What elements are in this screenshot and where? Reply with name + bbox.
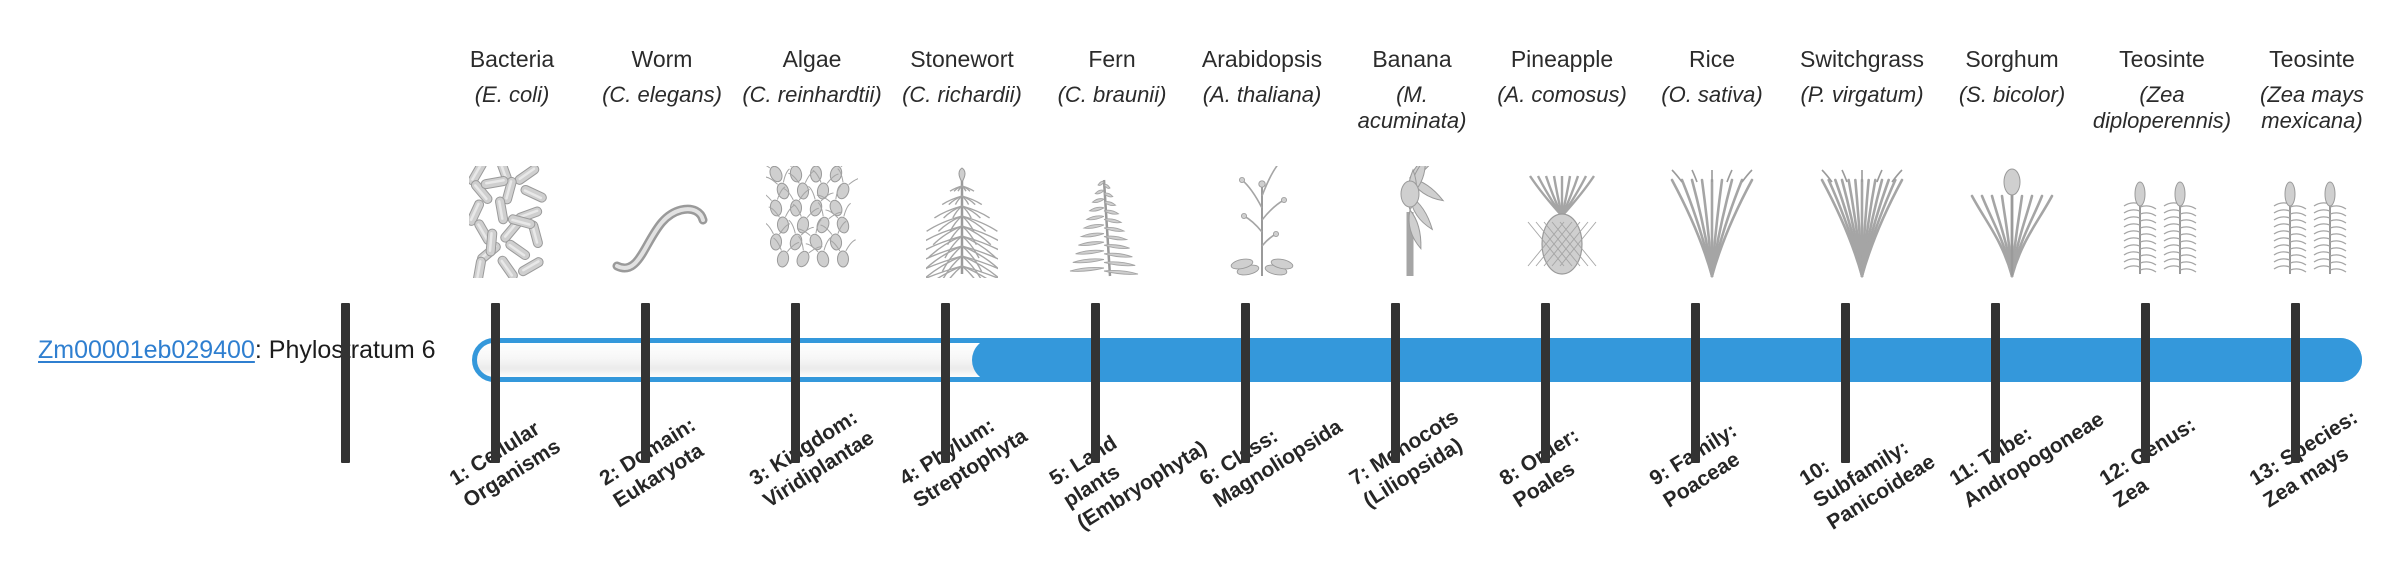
species-common-name: Banana xyxy=(1339,46,1485,73)
species-common-name: Fern xyxy=(1039,46,1185,73)
rank-label: 5: Land plants (Embryophyta) xyxy=(1045,399,1200,536)
species-scientific-name: (C. elegans) xyxy=(589,82,735,108)
species-column: Arabidopsis(A. thaliana)6: Class: Magnol… xyxy=(1195,0,1329,580)
species-common-name: Worm xyxy=(589,46,735,73)
rank-label: 9: Family: Poaceae xyxy=(1645,399,1786,514)
species-column: Maize(Zea mays mays)14: Subspecies: Zea … xyxy=(2395,0,2400,580)
pineapple-icon xyxy=(1495,168,1629,278)
rank-label: 10: Subfamily: Panicoideae xyxy=(1795,399,1950,536)
gene-label-separator: : xyxy=(255,336,269,364)
teosinte-ears-icon xyxy=(2095,168,2229,278)
species-common-name: Maize xyxy=(2389,46,2400,73)
species-scientific-name: (C. richardii) xyxy=(889,82,1035,108)
banana-plant-icon xyxy=(1345,168,1479,278)
rank-label: 6: Class: Magnoliopsida xyxy=(1195,399,1336,514)
species-scientific-name: (A. comosus) xyxy=(1489,82,1635,108)
species-header: Rice(O. sativa) xyxy=(1639,46,1785,108)
species-scientific-name: (C. reinhardtii) xyxy=(739,82,885,108)
species-scientific-name: (M. acuminata) xyxy=(1339,82,1485,134)
species-scientific-name: (O. sativa) xyxy=(1639,82,1785,108)
species-header: Bacteria(E. coli) xyxy=(439,46,585,108)
species-header: Arabidopsis(A. thaliana) xyxy=(1189,46,1335,108)
species-column: Algae(C. reinhardtii)3: Kingdom: Viridip… xyxy=(745,0,879,580)
species-header: Banana(M. acuminata) xyxy=(1339,46,1485,134)
species-column: Bacteria(E. coli)1: Cellular Organisms xyxy=(445,0,579,580)
rank-label: 7: Monocots (Liliopsida) xyxy=(1345,399,1486,514)
species-column: Fern(C. braunii)5: Land plants (Embryoph… xyxy=(1045,0,1179,580)
sorghum-icon xyxy=(1945,168,2079,278)
phylostratum-value: Phylostratum 6 xyxy=(269,336,436,364)
switchgrass-icon xyxy=(1795,168,1929,278)
rank-label: 14: Subspecies: Zea mays mays xyxy=(2395,399,2400,558)
species-column: Teosinte(Zea diploperennis)12: Genus: Ze… xyxy=(2095,0,2229,580)
bacteria-rods-icon xyxy=(445,168,579,278)
species-common-name: Sorghum xyxy=(1939,46,2085,73)
species-column: Worm(C. elegans)2: Domain: Eukaryota xyxy=(595,0,729,580)
phylostratigraphy-timeline: Zm00001eb029400: Phylostratum 6 Bacteria… xyxy=(0,0,2400,580)
algae-cells-icon xyxy=(745,168,879,278)
rank-label: 12: Genus: Zea xyxy=(2095,399,2236,514)
species-header: Teosinte(Zea diploperennis) xyxy=(2089,46,2235,134)
species-scientific-name: (Zea mays mays) xyxy=(2389,82,2400,134)
species-common-name: Stonewort xyxy=(889,46,1035,73)
species-scientific-name: (S. bicolor) xyxy=(1939,82,2085,108)
rank-label: 2: Domain: Eukaryota xyxy=(595,399,736,514)
arabidopsis-icon xyxy=(1195,168,1329,278)
species-common-name: Switchgrass xyxy=(1789,46,1935,73)
species-header: Worm(C. elegans) xyxy=(589,46,735,108)
gene-id-link[interactable]: Zm00001eb029400 xyxy=(38,336,255,364)
fern-frond-icon xyxy=(1045,168,1179,278)
species-column: Stonewort(C. richardii)4: Phylum: Strept… xyxy=(895,0,1029,580)
species-common-name: Bacteria xyxy=(439,46,585,73)
phylostratum-tick[interactable] xyxy=(341,303,350,463)
species-common-name: Pineapple xyxy=(1489,46,1635,73)
species-header: Pineapple(A. comosus) xyxy=(1489,46,1635,108)
rice-plant-icon xyxy=(1645,168,1779,278)
species-scientific-name: (Zea mays mexicana) xyxy=(2239,82,2385,134)
species-common-name: Rice xyxy=(1639,46,1785,73)
species-scientific-name: (Zea diploperennis) xyxy=(2089,82,2235,134)
stonewort-icon xyxy=(895,168,1029,278)
gene-phylostratum-label: Zm00001eb029400: Phylostratum 6 xyxy=(38,336,438,365)
species-header: Stonewort(C. richardii) xyxy=(889,46,1035,108)
species-columns: Bacteria(E. coli)1: Cellular OrganismsWo… xyxy=(470,0,2350,580)
species-scientific-name: (P. virgatum) xyxy=(1789,82,1935,108)
species-header: Teosinte(Zea mays mexicana) xyxy=(2239,46,2385,134)
species-scientific-name: (A. thaliana) xyxy=(1189,82,1335,108)
species-header: Algae(C. reinhardtii) xyxy=(739,46,885,108)
species-header: Fern(C. braunii) xyxy=(1039,46,1185,108)
rank-label: 8: Order: Poales xyxy=(1495,399,1636,514)
nematode-worm-icon xyxy=(595,168,729,278)
species-column: Sorghum(S. bicolor)11: Tribe: Andropogon… xyxy=(1945,0,2079,580)
species-scientific-name: (E. coli) xyxy=(439,82,585,108)
species-column: Switchgrass(P. virgatum)10: Subfamily: P… xyxy=(1795,0,1929,580)
teosinte-mexicana-icon xyxy=(2245,168,2379,278)
rank-label: 3: Kingdom: Viridiplantae xyxy=(745,399,886,514)
rank-label: 11: Tribe: Andropogoneae xyxy=(1945,399,2086,514)
species-common-name: Teosinte xyxy=(2089,46,2235,73)
rank-label: 1: Cellular Organisms xyxy=(445,399,586,514)
species-header: Switchgrass(P. virgatum) xyxy=(1789,46,1935,108)
maize-ear-icon xyxy=(2395,168,2400,278)
species-column: Rice(O. sativa)9: Family: Poaceae xyxy=(1645,0,1779,580)
species-common-name: Arabidopsis xyxy=(1189,46,1335,73)
species-column: Banana(M. acuminata)7: Monocots (Liliops… xyxy=(1345,0,1479,580)
rank-label: 4: Phylum: Streptophyta xyxy=(895,399,1036,514)
species-column: Teosinte(Zea mays mexicana)13: Species: … xyxy=(2245,0,2379,580)
species-common-name: Teosinte xyxy=(2239,46,2385,73)
species-common-name: Algae xyxy=(739,46,885,73)
species-header: Maize(Zea mays mays) xyxy=(2389,46,2400,134)
species-header: Sorghum(S. bicolor) xyxy=(1939,46,2085,108)
species-column: Pineapple(A. comosus)8: Order: Poales xyxy=(1495,0,1629,580)
species-scientific-name: (C. braunii) xyxy=(1039,82,1185,108)
rank-label: 13: Species: Zea mays xyxy=(2245,399,2386,514)
